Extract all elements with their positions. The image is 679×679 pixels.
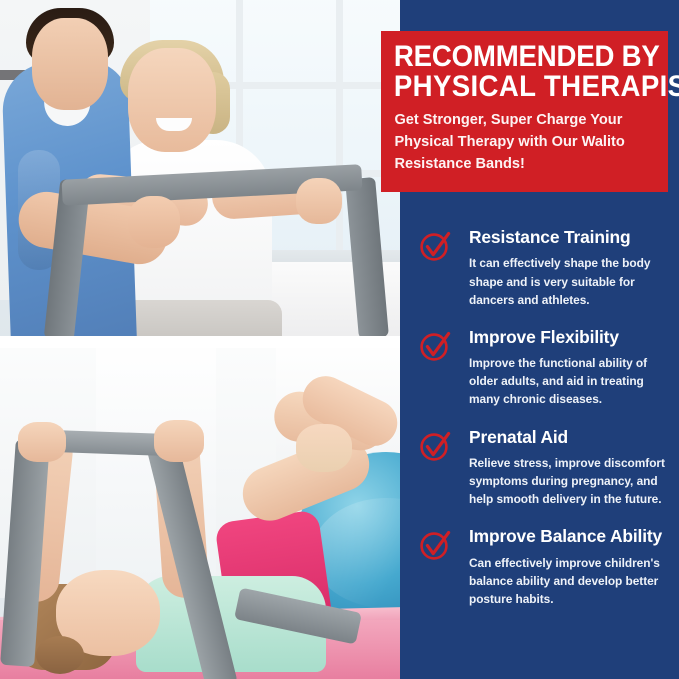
girl-right-hand: [154, 420, 204, 462]
feature-description: Relieve stress, improve discomfort sympt…: [469, 454, 674, 508]
feature-item-resistance-training: Resistance Training It can effectively s…: [419, 228, 677, 309]
girl-left-hand: [18, 422, 66, 462]
feature-item-prenatal-aid: Prenatal Aid Relieve stress, improve dis…: [419, 428, 677, 509]
therapist-assisting-woman-photo: [0, 0, 402, 340]
girl-hair-bun: [36, 636, 84, 674]
feature-list: Resistance Training It can effectively s…: [419, 228, 677, 627]
feature-title: Improve Balance Ability: [469, 527, 677, 546]
headline-banner: RECOMMENDED BY PHYSICAL THERAPIST Get St…: [381, 31, 668, 192]
subheadline: Get Stronger, Super Charge Your Physical…: [381, 101, 657, 175]
product-infographic: RECOMMENDED BY PHYSICAL THERAPIST Get St…: [0, 0, 679, 679]
check-circle-icon: [419, 230, 451, 262]
feature-title: Resistance Training: [469, 228, 677, 247]
check-circle-icon: [419, 529, 451, 561]
girl-on-mat-with-ball-photo: [0, 348, 402, 679]
photo-column: [0, 0, 402, 679]
check-circle-icon: [419, 330, 451, 362]
feature-item-improve-flexibility: Improve Flexibility Improve the function…: [419, 328, 677, 409]
headline: RECOMMENDED BY PHYSICAL THERAPIST: [381, 31, 645, 101]
therapist-head: [32, 18, 108, 110]
therapist-hand: [128, 196, 180, 248]
woman-head: [128, 48, 216, 152]
feature-title: Prenatal Aid: [469, 428, 677, 447]
woman-lap: [112, 300, 282, 340]
feature-description: Can effectively improve children's balan…: [469, 554, 674, 608]
headline-line-2: PHYSICAL THERAPIST: [394, 72, 632, 102]
check-circle-icon: [419, 430, 451, 462]
headline-line-1: RECOMMENDED BY: [394, 42, 632, 72]
therapist-hands: [296, 424, 352, 472]
feature-title: Improve Flexibility: [469, 328, 677, 347]
woman-right-hand: [296, 178, 342, 224]
feature-description: It can effectively shape the body shape …: [469, 254, 674, 308]
feature-item-improve-balance-ability: Improve Balance Ability Can effectively …: [419, 527, 677, 608]
feature-description: Improve the functional ability of older …: [469, 354, 674, 408]
